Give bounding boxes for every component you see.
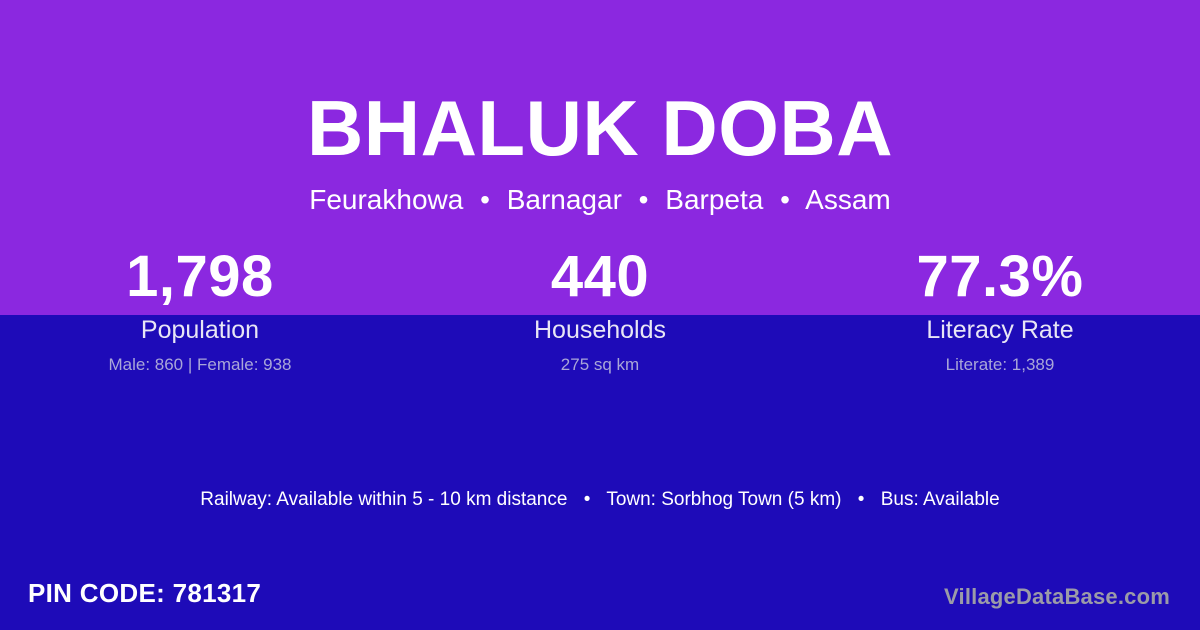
amenity-separator-icon: • (573, 489, 602, 510)
pin-code: PIN CODE: 781317 (28, 576, 261, 610)
stat-label: Population (0, 315, 400, 345)
site-brand: VillageDataBase.com (944, 583, 1170, 611)
stat-label: Literacy Rate (800, 315, 1200, 345)
breadcrumb-item-1: Barnagar (507, 184, 622, 215)
breadcrumb-item-2: Barpeta (665, 184, 763, 215)
page-title: BHALUK DOBA (0, 82, 1200, 174)
breadcrumb-separator-icon: • (471, 184, 499, 215)
stat-value: 77.3% (800, 243, 1200, 311)
breadcrumb-separator-icon: • (771, 184, 799, 215)
amenity-separator-icon: • (847, 489, 876, 510)
stat-sublabel: Literate: 1,389 (800, 354, 1200, 376)
breadcrumb-item-3: Assam (805, 184, 891, 215)
stats-row: 1,798 Population Male: 860 | Female: 938… (0, 243, 1200, 376)
stat-value: 1,798 (0, 243, 400, 311)
stat-households: 440 Households 275 sq km (400, 243, 800, 376)
village-info-card: BHALUK DOBA Feurakhowa • Barnagar • Barp… (0, 0, 1200, 630)
stat-sublabel: 275 sq km (400, 354, 800, 376)
stat-label: Households (400, 315, 800, 345)
amenity-bus: Bus: Available (881, 489, 1000, 510)
breadcrumb-separator-icon: • (630, 184, 658, 215)
amenities-line: Railway: Available within 5 - 10 km dist… (0, 487, 1200, 513)
stat-literacy-rate: 77.3% Literacy Rate Literate: 1,389 (800, 243, 1200, 376)
breadcrumb: Feurakhowa • Barnagar • Barpeta • Assam (0, 182, 1200, 218)
breadcrumb-item-0: Feurakhowa (309, 184, 463, 215)
stat-sublabel: Male: 860 | Female: 938 (0, 354, 400, 376)
amenity-town: Town: Sorbhog Town (5 km) (606, 489, 841, 510)
stat-population: 1,798 Population Male: 860 | Female: 938 (0, 243, 400, 376)
amenity-railway: Railway: Available within 5 - 10 km dist… (200, 489, 567, 510)
stat-value: 440 (400, 243, 800, 311)
